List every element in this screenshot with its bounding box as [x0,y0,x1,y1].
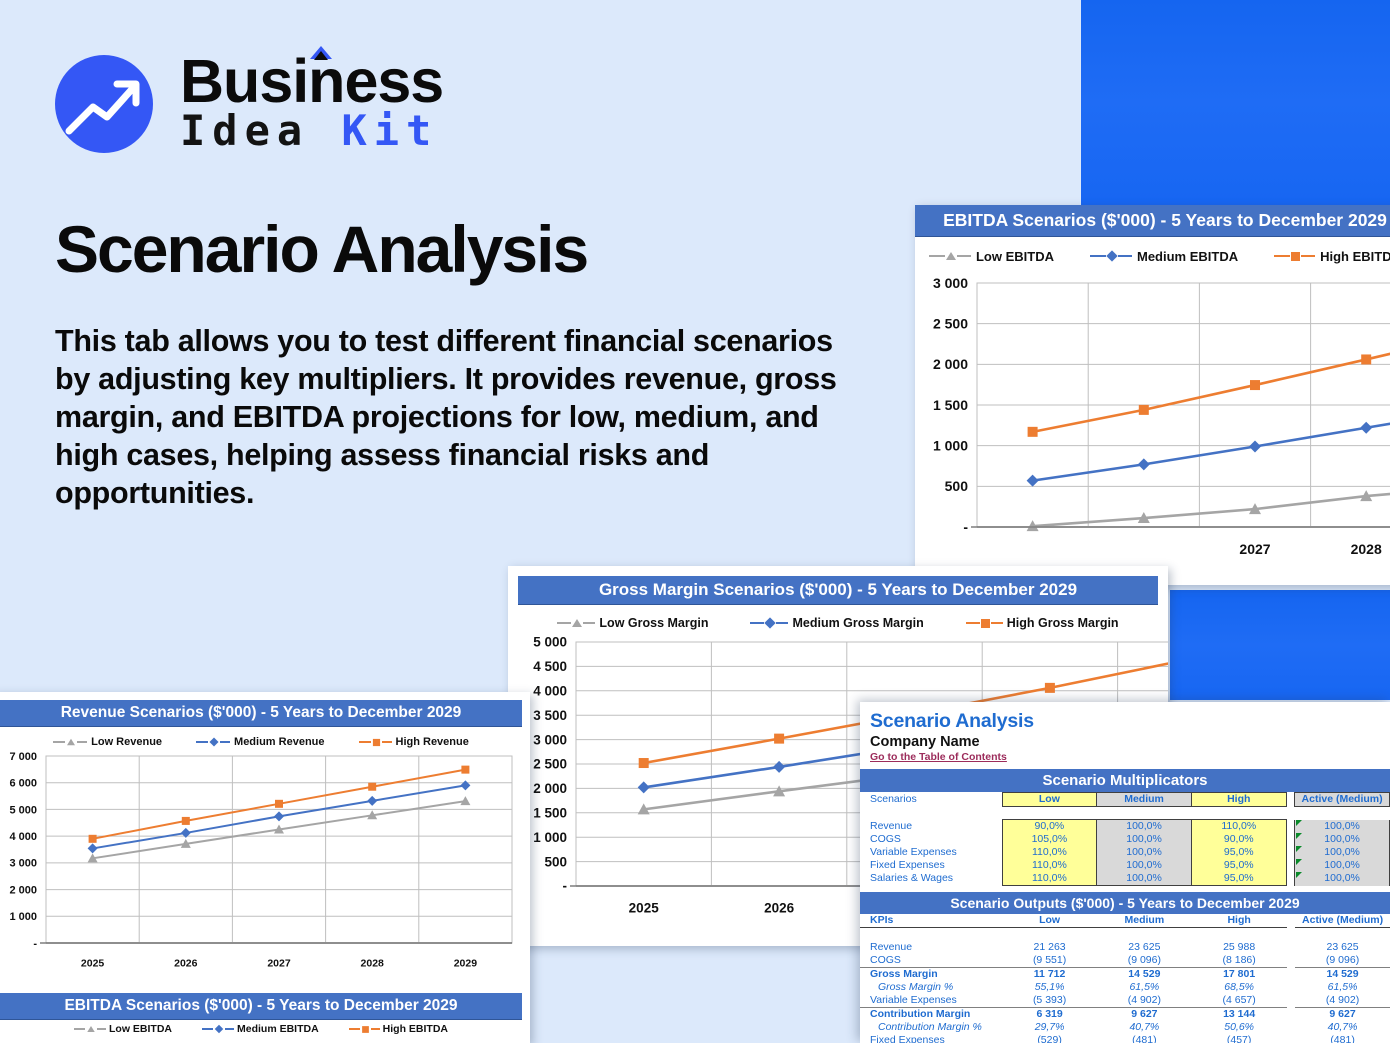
svg-text:1 500: 1 500 [533,806,567,821]
table-row: Contribution Margin 6 319 9 627 13 144 9… [860,1007,1390,1021]
cell-low: 29,7% [1002,1021,1097,1034]
cell-high: (457) [1192,1034,1287,1043]
table-row-header: KPIs Low Medium High Active (Medium) [860,914,1390,928]
cell-active[interactable]: 100,0% [1295,833,1390,846]
chart-card-ebitda-top: EBITDA Scenarios ($'000) - 5 Years to De… [915,205,1390,585]
row-label: Fixed Expenses [860,1034,1002,1043]
svg-text:-: - [33,938,37,950]
table-row: Salaries & Wages 110,0% 100,0% 95,0% 100… [860,872,1390,886]
chart-title-revenue: Revenue Scenarios ($'000) - 5 Years to D… [0,700,522,727]
table-row: Contribution Margin % 29,7% 40,7% 50,6% … [860,1021,1390,1034]
legend-item-high: High Gross Margin [966,616,1119,630]
table-row: Fixed Expenses (529) (481) (457) (481) [860,1034,1390,1043]
cell-low: 11 712 [1002,967,1097,981]
band-scenario-outputs: Scenario Outputs ($'000) - 5 Years to De… [860,892,1390,914]
square-marker-icon [1291,252,1300,261]
svg-text:2 500: 2 500 [933,316,968,332]
svg-text:4 000: 4 000 [9,831,37,843]
row-label: Revenue [860,941,1002,954]
row-label: Variable Expenses [860,846,1002,859]
cell-high: 50,6% [1192,1021,1287,1034]
table-row: COGS 105,0% 100,0% 90,0% 100,0% [860,833,1390,846]
growth-arrow-icon [55,55,153,153]
chart-title-gross-margin: Gross Margin Scenarios ($'000) - 5 Years… [518,576,1158,605]
col-header-medium[interactable]: Medium [1097,793,1192,807]
chart-title-ebitda-bottom: EBITDA Scenarios ($'000) - 5 Years to De… [0,993,522,1020]
cell-active[interactable]: 100,0% [1295,859,1390,872]
legend-label-medium: Medium Gross Margin [792,616,923,630]
svg-text:3 500: 3 500 [533,708,567,723]
svg-text:2028: 2028 [361,958,385,970]
row-label: Revenue [860,820,1002,834]
col-header-high: High [1192,914,1287,928]
cell-active[interactable]: 100,0% [1295,846,1390,859]
svg-text:4 500: 4 500 [533,659,567,674]
outputs-table: KPIs Low Medium High Active (Medium) Rev… [860,914,1390,1043]
svg-text:500: 500 [544,854,567,869]
svg-text:2 000: 2 000 [933,356,968,372]
row-label: COGS [860,954,1002,968]
row-label: Contribution Margin [860,1007,1002,1021]
row-label: Fixed Expenses [860,859,1002,872]
cell-medium: (481) [1097,1034,1192,1043]
legend-label-high: High Revenue [396,736,469,748]
triangle-marker-icon [946,252,956,260]
legend-item-medium: Medium EBITDA [1090,249,1238,264]
cell-medium: (9 096) [1097,954,1192,968]
legend-label-medium: Medium Revenue [234,736,324,748]
cell-active[interactable]: 100,0% [1295,820,1390,834]
table-row: Variable Expenses (5 393) (4 902) (4 657… [860,994,1390,1008]
svg-text:2027: 2027 [1239,541,1270,557]
cell-active: 40,7% [1295,1021,1390,1034]
table-row: Variable Expenses 110,0% 100,0% 95,0% 10… [860,846,1390,859]
cell-medium[interactable]: 100,0% [1097,859,1192,872]
square-marker-icon [372,738,379,745]
cell-medium[interactable]: 100,0% [1097,872,1192,886]
cell-medium: 40,7% [1097,1021,1192,1034]
legend-label-medium: Medium EBITDA [1137,249,1238,264]
legend-item-medium: Medium Gross Margin [750,616,923,630]
diamond-marker-icon [1106,250,1117,261]
decor-block-top-right [1081,0,1390,205]
legend-item-low: Low Gross Margin [557,616,708,630]
col-header-active[interactable]: Active (Medium) [1295,793,1390,807]
svg-text:5 000: 5 000 [9,804,37,816]
multiplicators-table: Scenarios Low Medium High Active (Medium… [860,792,1390,886]
chart-plot-revenue: -1 0002 0003 0004 0005 0006 0007 0002025… [0,750,530,985]
legend-item-low: Low EBITDA [929,249,1054,264]
brand-logo: Business Idea Kit [55,55,455,155]
cell-medium[interactable]: 100,0% [1097,820,1192,834]
svg-text:2029: 2029 [454,958,478,970]
row-label: Gross Margin [860,967,1002,981]
legend-label-low: Low Revenue [91,736,162,748]
diamond-marker-icon [765,617,776,628]
col-header-high[interactable]: High [1191,793,1286,807]
cell-low[interactable]: 90,0% [1002,820,1097,834]
row-label: COGS [860,833,1002,846]
scenarios-label: Scenarios [860,793,1002,807]
svg-text:1 500: 1 500 [933,397,968,413]
cell-low[interactable]: 110,0% [1002,846,1097,859]
row-label: Gross Margin % [860,981,1002,994]
cell-low: 6 319 [1002,1007,1097,1021]
svg-text:2026: 2026 [174,958,198,970]
cell-low: 21 263 [1002,941,1097,954]
legend-label-medium: Medium EBITDA [237,1023,319,1035]
cell-low[interactable]: 105,0% [1002,833,1097,846]
cell-high[interactable]: 95,0% [1191,872,1286,886]
svg-text:-: - [963,519,968,535]
cell-high[interactable]: 110,0% [1191,820,1286,834]
col-header-medium: Medium [1097,914,1192,928]
col-header-low[interactable]: Low [1002,793,1097,807]
svg-text:2 500: 2 500 [533,757,567,772]
legend-item-medium: Medium Revenue [196,736,324,748]
svg-text:2027: 2027 [267,958,291,970]
cell-low[interactable]: 110,0% [1002,872,1097,886]
cell-high: 13 144 [1192,1007,1287,1021]
diamond-marker-icon [215,1025,223,1033]
legend-item-high: High EBITDA [349,1023,448,1035]
cell-low: (9 551) [1002,954,1097,968]
cell-medium[interactable]: 100,0% [1097,846,1192,859]
chart-legend-ebitda-bottom: Low EBITDA Medium EBITDA High EBITDA [0,1019,530,1039]
svg-text:6 000: 6 000 [9,778,37,790]
legend-item-high: High Revenue [359,736,469,748]
chart-legend-ebitda-top: Low EBITDA Medium EBITDA High EBITDA [915,241,1390,271]
cell-high[interactable]: 95,0% [1191,846,1286,859]
cell-high: (8 186) [1192,954,1287,968]
triangle-marker-icon [572,619,582,627]
triangle-marker-icon [67,739,75,745]
cell-low[interactable]: 110,0% [1002,859,1097,872]
cell-active: 23 625 [1295,941,1390,954]
svg-text:7 000: 7 000 [9,751,37,763]
cell-active: (481) [1295,1034,1390,1043]
cell-high: 68,5% [1192,981,1287,994]
col-header-active: Active (Medium) [1295,914,1390,928]
cell-medium[interactable]: 100,0% [1097,833,1192,846]
legend-label-high: High Gross Margin [1007,616,1119,630]
svg-text:3 000: 3 000 [9,858,37,870]
cell-low: (529) [1002,1034,1097,1043]
svg-text:2028: 2028 [1351,541,1382,557]
table-row: Revenue 90,0% 100,0% 110,0% 100,0% [860,820,1390,834]
chart-legend-gross-margin: Low Gross Margin Medium Gross Margin Hig… [508,609,1168,637]
cell-low: 55,1% [1002,981,1097,994]
svg-text:2025: 2025 [81,958,105,970]
svg-text:2026: 2026 [764,901,795,916]
cell-high[interactable]: 95,0% [1191,859,1286,872]
cell-high: 17 801 [1192,967,1287,981]
scenario-analysis-sheet: Scenario Analysis Company Name Go to the… [860,702,1390,1043]
svg-text:1 000: 1 000 [533,830,567,845]
chart-title-ebitda-top: EBITDA Scenarios ($'000) - 5 Years to De… [915,205,1390,237]
col-header-low: Low [1002,914,1097,928]
brand-name-line1: Business [180,50,443,112]
diamond-marker-icon [210,737,219,746]
svg-text:500: 500 [945,478,969,494]
table-row: Fixed Expenses 110,0% 100,0% 95,0% 100,0… [860,859,1390,872]
table-row: Gross Margin 11 712 14 529 17 801 14 529 [860,967,1390,981]
cell-high: (4 657) [1192,994,1287,1008]
svg-text:3 000: 3 000 [533,732,567,747]
page-title: Scenario Analysis [55,212,587,286]
legend-label-low: Low EBITDA [976,249,1054,264]
cell-medium: 23 625 [1097,941,1192,954]
legend-item-high: High EBITDA [1274,249,1390,264]
svg-text:2 000: 2 000 [9,884,37,896]
triangle-marker-icon [87,1026,95,1032]
svg-text:4 000: 4 000 [533,684,567,699]
svg-text:5 000: 5 000 [533,635,567,650]
row-label: Contribution Margin % [860,1021,1002,1034]
page-description: This tab allows you to test different fi… [55,322,855,512]
table-row-header: Scenarios Low Medium High Active (Medium… [860,793,1390,807]
cell-active: 9 627 [1295,1007,1390,1021]
svg-text:-: - [563,879,568,894]
legend-label-low: Low EBITDA [109,1023,172,1035]
legend-label-low: Low Gross Margin [599,616,708,630]
cell-medium: 14 529 [1097,967,1192,981]
square-marker-icon [981,619,990,628]
legend-label-high: High EBITDA [1320,249,1390,264]
legend-item-low: Low EBITDA [74,1023,172,1035]
cell-medium: 9 627 [1097,1007,1192,1021]
row-label: Salaries & Wages [860,872,1002,886]
sheet-company-name: Company Name [870,734,1390,750]
table-row: COGS (9 551) (9 096) (8 186) (9 096) [860,954,1390,968]
svg-text:1 000: 1 000 [933,438,968,454]
band-scenario-multiplicators: Scenario Multiplicators [860,769,1390,792]
legend-item-medium: Medium EBITDA [202,1023,319,1035]
row-label: Variable Expenses [860,994,1002,1008]
cell-active: 61,5% [1295,981,1390,994]
table-row: Gross Margin % 55,1% 61,5% 68,5% 61,5% [860,981,1390,994]
kpi-header: KPIs [860,914,1002,928]
table-row: Revenue 21 263 23 625 25 988 23 625 [860,941,1390,954]
svg-text:1 000: 1 000 [9,911,37,923]
cell-medium: 61,5% [1097,981,1192,994]
legend-item-low: Low Revenue [53,736,162,748]
chart-card-revenue: Revenue Scenarios ($'000) - 5 Years to D… [0,692,530,1043]
cell-active: 14 529 [1295,967,1390,981]
cell-low: (5 393) [1002,994,1097,1008]
svg-text:2 000: 2 000 [533,781,567,796]
brand-accent-caret-icon [310,46,332,59]
cell-high[interactable]: 90,0% [1191,833,1286,846]
cell-active: (9 096) [1295,954,1390,968]
cell-medium: (4 902) [1097,994,1192,1008]
decor-block-mid-right [1170,590,1390,700]
svg-text:3 000: 3 000 [933,275,968,291]
chart-plot-ebitda-top: -5001 0001 5002 0002 5003 00020272028 [915,275,1390,585]
legend-label-high: High EBITDA [383,1023,448,1035]
cell-active[interactable]: 100,0% [1295,872,1390,886]
sheet-title: Scenario Analysis [870,710,1390,733]
square-marker-icon [362,1026,369,1033]
cell-active: (4 902) [1295,994,1390,1008]
table-of-contents-link[interactable]: Go to the Table of Contents [870,751,1390,763]
svg-text:2025: 2025 [629,901,660,916]
cell-high: 25 988 [1192,941,1287,954]
